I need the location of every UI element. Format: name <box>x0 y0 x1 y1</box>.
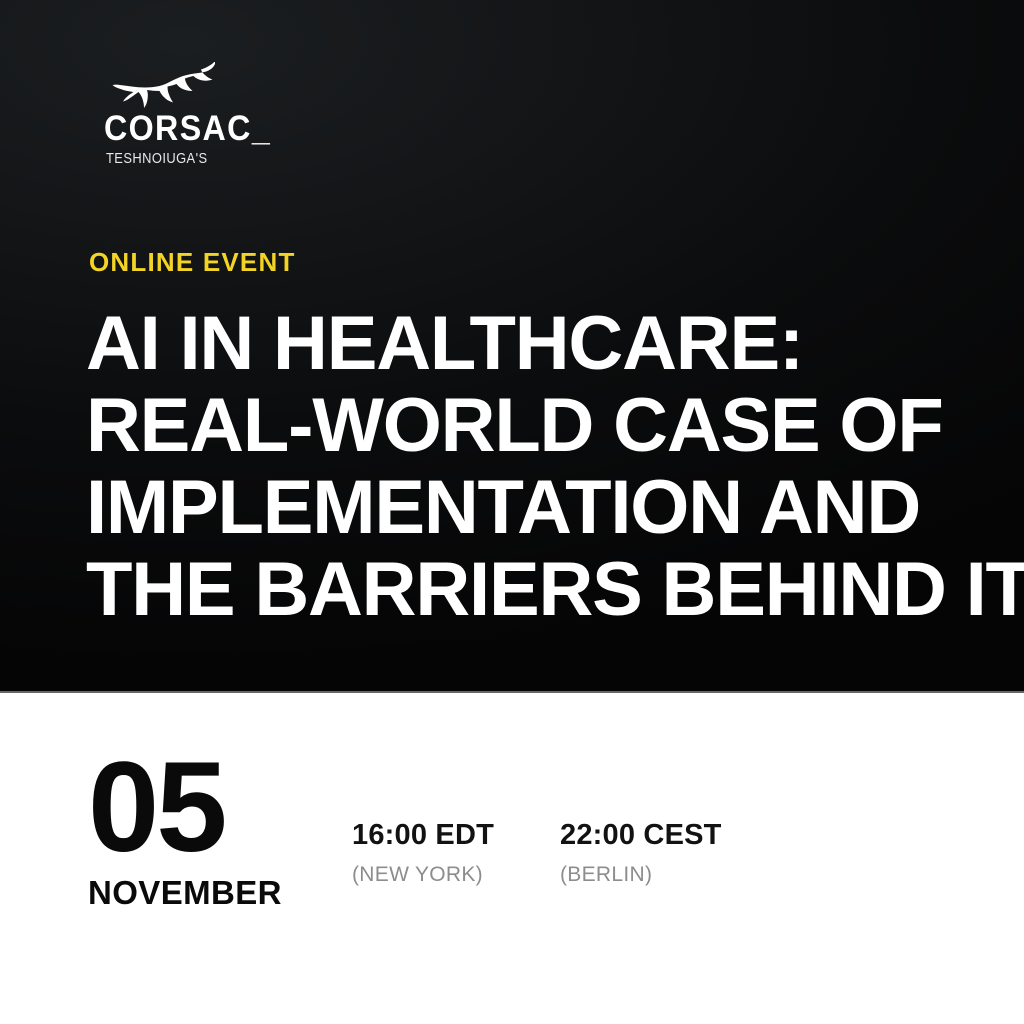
event-times: 16:00 EDT (NEW YORK) 22:00 CEST (BERLIN) <box>352 821 722 885</box>
brand-wordmark: CORSAC_ <box>104 111 301 146</box>
event-type-label: ONLINE EVENT <box>89 249 296 275</box>
event-title-line-2: REAL-WORLD CASE OF <box>86 385 1024 467</box>
running-fox-icon <box>112 62 232 108</box>
event-title-line-4: THE BARRIERS BEHIND IT <box>86 549 1024 631</box>
time-value: 22:00 CEST <box>560 821 722 850</box>
event-date: 05 NOVEMBER <box>88 756 282 909</box>
event-date-month: NOVEMBER <box>88 876 282 909</box>
event-title-line-3: IMPLEMENTATION AND <box>86 467 1024 549</box>
brand-tagline: TESHNOIUGA'S <box>106 151 288 166</box>
footer-section: 05 NOVEMBER 16:00 EDT (NEW YORK) 22:00 C… <box>0 693 1024 1024</box>
brand-logo[interactable]: CORSAC_ TESHNOIUGA'S <box>88 62 318 166</box>
time-city-label: (BERLIN) <box>560 864 722 885</box>
event-poster: CORSAC_ TESHNOIUGA'S ONLINE EVENT AI IN … <box>0 0 1024 1024</box>
event-title-line-1: AI IN HEALTHCARE: <box>86 303 1024 385</box>
time-city-label: (NEW YORK) <box>352 864 502 885</box>
time-slot-berlin: 22:00 CEST (BERLIN) <box>560 821 722 885</box>
event-date-day: 05 <box>88 756 282 860</box>
hero-section: CORSAC_ TESHNOIUGA'S ONLINE EVENT AI IN … <box>0 0 1024 693</box>
event-title: AI IN HEALTHCARE: REAL-WORLD CASE OF IMP… <box>86 303 1024 631</box>
time-slot-new-york: 16:00 EDT (NEW YORK) <box>352 821 502 885</box>
time-value: 16:00 EDT <box>352 821 502 850</box>
